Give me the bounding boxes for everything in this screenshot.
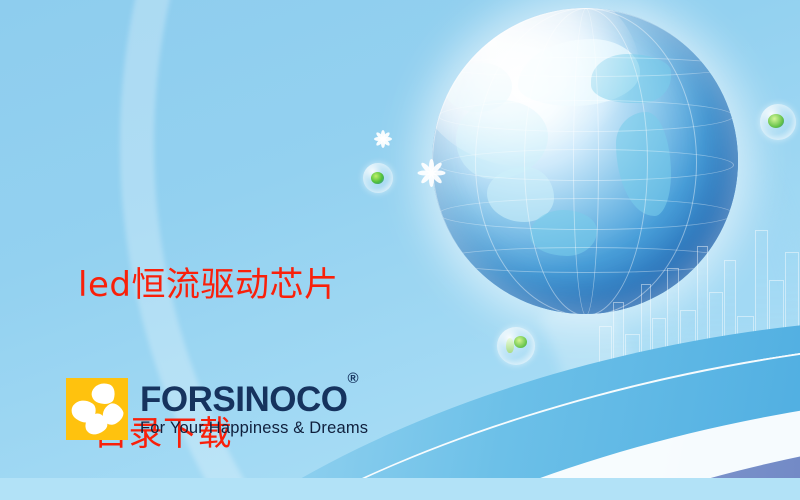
bubble-leaf-icon (760, 104, 796, 140)
bubble-sprout-icon (497, 327, 535, 365)
promo-banner: led恒流驱动芯片 目录下载 FORSINOCO® For Your Happi… (0, 0, 800, 500)
daisy-small-icon (373, 129, 393, 149)
pinwheel-icon (66, 378, 128, 440)
registered-mark: ® (347, 370, 358, 387)
headline-line-1: led恒流驱动芯片 (78, 261, 438, 311)
page-title: led恒流驱动芯片 目录下载 (78, 162, 438, 500)
brand-name: FORSINOCO® (140, 382, 368, 417)
city-skyline-icon (595, 207, 800, 382)
brand-tagline: For Your Happiness & Dreams (140, 420, 368, 437)
brand-logo[interactable]: FORSINOCO® For Your Happiness & Dreams (66, 378, 368, 440)
brand-name-text: FORSINOCO (140, 380, 347, 419)
brand-wordmark: FORSINOCO® For Your Happiness & Dreams (140, 382, 368, 437)
